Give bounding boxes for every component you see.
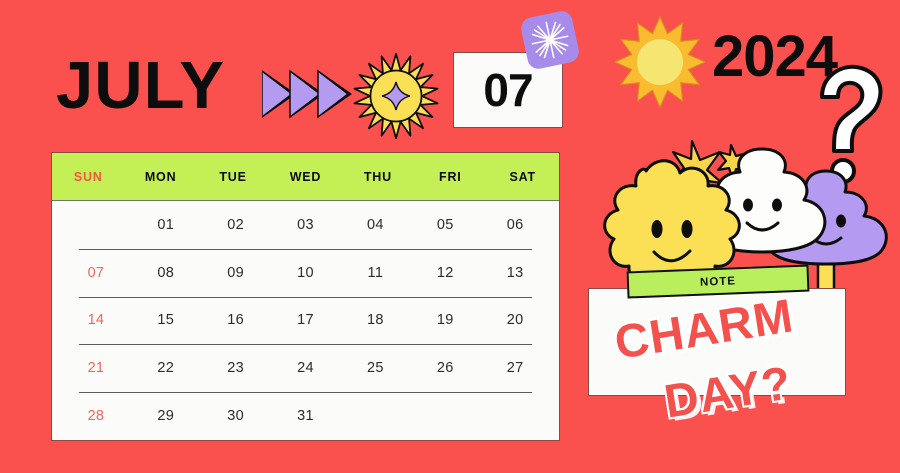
day-cell[interactable]: 06 [480,217,550,233]
day-cell[interactable]: 13 [480,265,550,281]
smiling-cloud-icon [699,149,825,252]
weekday-header-mon: MON [124,153,196,200]
weekday-header-thu: THU [342,153,414,200]
day-cell[interactable]: 28 [61,408,131,424]
day-cell[interactable]: 01 [131,217,201,233]
day-cell[interactable]: 27 [480,360,550,376]
day-cell[interactable]: 16 [201,312,271,328]
sun-icon [612,14,708,110]
day-cell[interactable]: 09 [201,265,271,281]
day-cell[interactable]: 22 [131,360,201,376]
sun-with-star-icon [352,52,440,140]
day-cell[interactable]: 02 [201,217,271,233]
day-cell[interactable]: 15 [131,312,201,328]
day-cell[interactable]: 29 [131,408,201,424]
month-number: 07 [483,67,532,113]
star-small-icon [718,145,749,181]
note-tab-label: NOTE [700,275,736,288]
day-cell[interactable]: 07 [61,265,131,281]
day-cell[interactable]: 12 [410,265,480,281]
day-cell[interactable]: 30 [201,408,271,424]
day-cell[interactable]: 04 [340,217,410,233]
calendar-week-row: 28 29 30 31 [61,392,550,440]
weekday-header-tue: TUE [197,153,269,200]
triple-chevron-right-icon [262,68,352,120]
day-cell[interactable]: 23 [201,360,271,376]
weekday-header-fri: FRI [414,153,486,200]
calendar-week-row: 21 22 23 24 25 26 27 [61,344,550,392]
day-cell[interactable]: 10 [271,265,341,281]
calendar-weeks: 01 02 03 04 05 06 07 08 09 10 11 12 13 1… [52,201,559,440]
day-cell[interactable]: 24 [271,360,341,376]
day-cell[interactable]: 31 [271,408,341,424]
day-cell[interactable]: 26 [410,360,480,376]
sparkle-badge-icon [519,9,581,71]
day-cell[interactable]: 05 [410,217,480,233]
calendar-poster: JULY [0,0,900,473]
calendar-week-row: 14 15 16 17 18 19 20 [61,297,550,345]
calendar-card: SUN MON TUE WED THU FRI SAT 01 02 03 04 … [51,152,560,441]
day-cell[interactable]: 19 [410,312,480,328]
day-cell[interactable]: 08 [131,265,201,281]
weekday-header-sat: SAT [487,153,559,200]
weekday-header-sun: SUN [52,153,124,200]
day-cell[interactable]: 14 [61,312,131,328]
star-icon [670,141,722,199]
day-cell[interactable]: 18 [340,312,410,328]
question-mark-icon [808,63,888,185]
weekday-header-wed: WED [269,153,341,200]
day-cell[interactable]: 17 [271,312,341,328]
day-cell[interactable]: 03 [271,217,341,233]
calendar-week-row: 01 02 03 04 05 06 [61,201,550,249]
day-cell[interactable]: 11 [340,265,410,281]
day-cell[interactable]: 21 [61,360,131,376]
page-title: JULY [56,52,225,119]
day-cell[interactable]: 20 [480,312,550,328]
calendar-weekday-header: SUN MON TUE WED THU FRI SAT [52,153,559,201]
calendar-week-row: 07 08 09 10 11 12 13 [61,249,550,297]
day-cell[interactable]: 25 [340,360,410,376]
